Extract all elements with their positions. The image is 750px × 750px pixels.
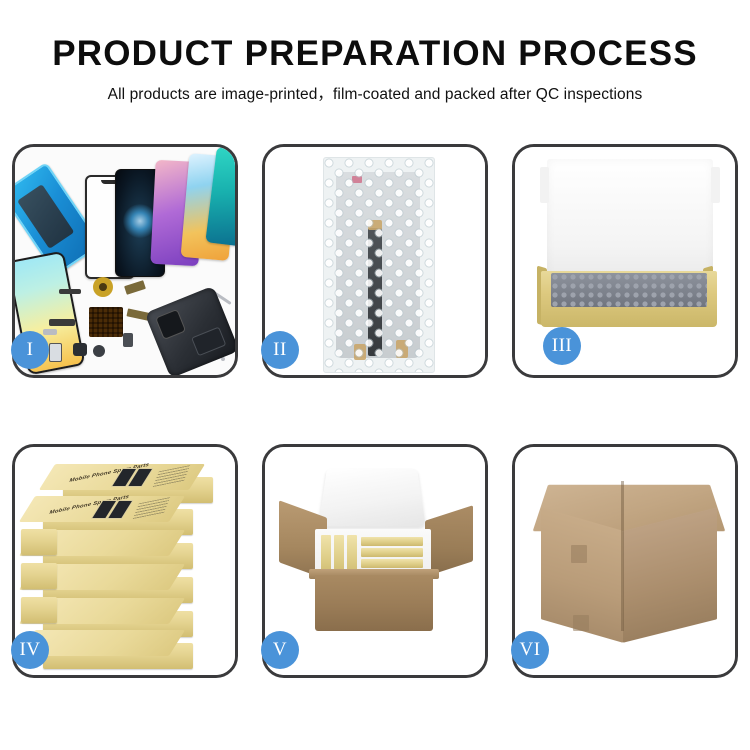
carton-flap-right <box>425 505 473 577</box>
step-badge-4: IV <box>11 631 49 669</box>
camera-module-part <box>73 343 87 356</box>
gold-coil-inner <box>99 283 107 291</box>
retail-box-side-layer-3 <box>21 597 57 623</box>
product-preparation-page: PRODUCT PREPARATION PROCESS All products… <box>0 0 750 750</box>
step-6-photo <box>515 447 735 675</box>
step-4-photo: Mobile Phone Spare Parts Mobile Phone Sp… <box>15 447 235 675</box>
retail-box-layer-6 <box>43 643 193 669</box>
connector-part-1 <box>49 319 75 326</box>
carton-tape-lower <box>573 615 589 631</box>
battery-cell-part <box>49 343 62 362</box>
foam-packing-insert <box>551 273 707 307</box>
carton-front-panel <box>315 575 433 631</box>
step-badge-1: I <box>11 331 49 369</box>
step-badge-2: II <box>261 331 299 369</box>
retail-box-spec-lines-2 <box>132 497 170 520</box>
retail-box-back-1-top: Mobile Phone Spare Parts <box>39 464 205 490</box>
carton-vertical-seam <box>621 481 624 631</box>
carton-tape-upper <box>571 545 587 563</box>
process-step-card-6: VI <box>512 444 738 678</box>
packed-box-4 <box>361 537 423 546</box>
retail-box-side-layer-1 <box>21 529 57 555</box>
page-header: PRODUCT PREPARATION PROCESS All products… <box>0 0 750 104</box>
page-subtitle: All products are image-printed，film-coat… <box>0 73 750 104</box>
process-step-card-5: V <box>262 444 488 678</box>
bubble-texture <box>324 158 434 372</box>
white-box-lid <box>547 159 713 283</box>
process-steps-grid: I II <box>12 144 738 678</box>
page-title: PRODUCT PREPARATION PROCESS <box>0 0 750 73</box>
step-1-photo <box>15 147 235 375</box>
ic-chip-array <box>89 307 123 337</box>
retail-box-spec-lines-1 <box>152 465 190 488</box>
packed-box-5 <box>361 548 423 557</box>
step-badge-5: V <box>261 631 299 669</box>
flex-cable-part-1 <box>124 280 146 295</box>
retail-box-front-1-top: Mobile Phone Spare Parts <box>19 496 185 522</box>
step-2-photo <box>265 147 485 375</box>
process-step-card-3: III <box>512 144 738 378</box>
foam-box-lid <box>318 469 425 527</box>
packed-box-6 <box>361 559 423 568</box>
bubble-wrap-bag <box>323 157 435 373</box>
step-5-photo <box>265 447 485 675</box>
vibration-motor-part <box>93 345 105 357</box>
process-step-card-1: I <box>12 144 238 378</box>
process-step-card-2: II <box>262 144 488 378</box>
step-badge-6: VI <box>511 631 549 669</box>
step-badge-3: III <box>543 327 581 365</box>
retail-box-stack: Mobile Phone Spare Parts Mobile Phone Sp… <box>15 447 235 675</box>
retail-box-side-layer-2 <box>21 563 57 589</box>
sim-tray-part <box>123 333 133 347</box>
speaker-mesh-part <box>59 289 81 294</box>
carton-right-face <box>623 507 717 642</box>
process-step-card-4: Mobile Phone Spare Parts Mobile Phone Sp… <box>12 444 238 678</box>
metal-bracket-part <box>43 329 57 335</box>
